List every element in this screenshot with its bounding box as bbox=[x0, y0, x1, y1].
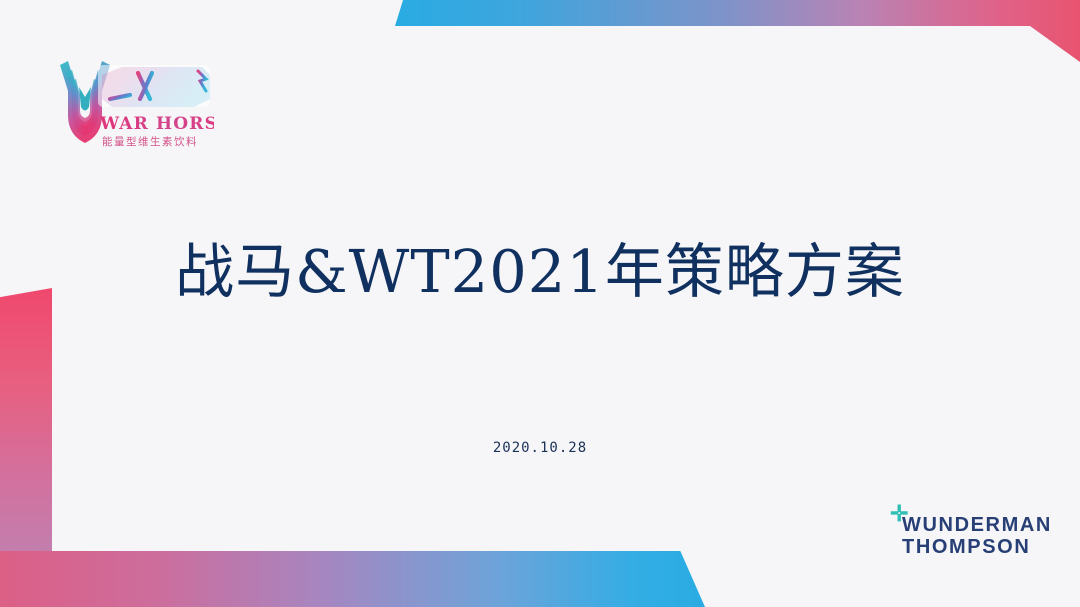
page-title: 战马&WT2021年策略方案 bbox=[0, 238, 1080, 306]
slide-date: 2020.10.28 bbox=[0, 440, 1080, 456]
war-horse-logo: WAR HORSE 能量型维生素饮料 bbox=[52, 57, 214, 153]
war-horse-tagline: 能量型维生素饮料 bbox=[102, 135, 198, 148]
war-horse-en-wordmark: WAR HORSE bbox=[99, 114, 214, 134]
agency-logo-line2: THOMPSON bbox=[902, 536, 1030, 558]
left-gradient-band bbox=[0, 288, 52, 556]
top-gradient-band bbox=[395, 0, 1080, 62]
agency-logo-line1: WUNDERMAN bbox=[902, 514, 1052, 536]
warhorse-cn-wordmark bbox=[98, 65, 210, 107]
wunderman-thompson-logo: ✛ WUNDERMAN THOMPSON bbox=[888, 503, 1030, 561]
title-slide: WAR HORSE 能量型维生素饮料 战马&WT2021年策略方案 2020.1… bbox=[0, 0, 1080, 607]
war-horse-logo-graphic: WAR HORSE 能量型维生素饮料 bbox=[52, 57, 214, 153]
bottom-gradient-band bbox=[0, 551, 705, 607]
title-block: 战马&WT2021年策略方案 bbox=[0, 238, 1080, 306]
